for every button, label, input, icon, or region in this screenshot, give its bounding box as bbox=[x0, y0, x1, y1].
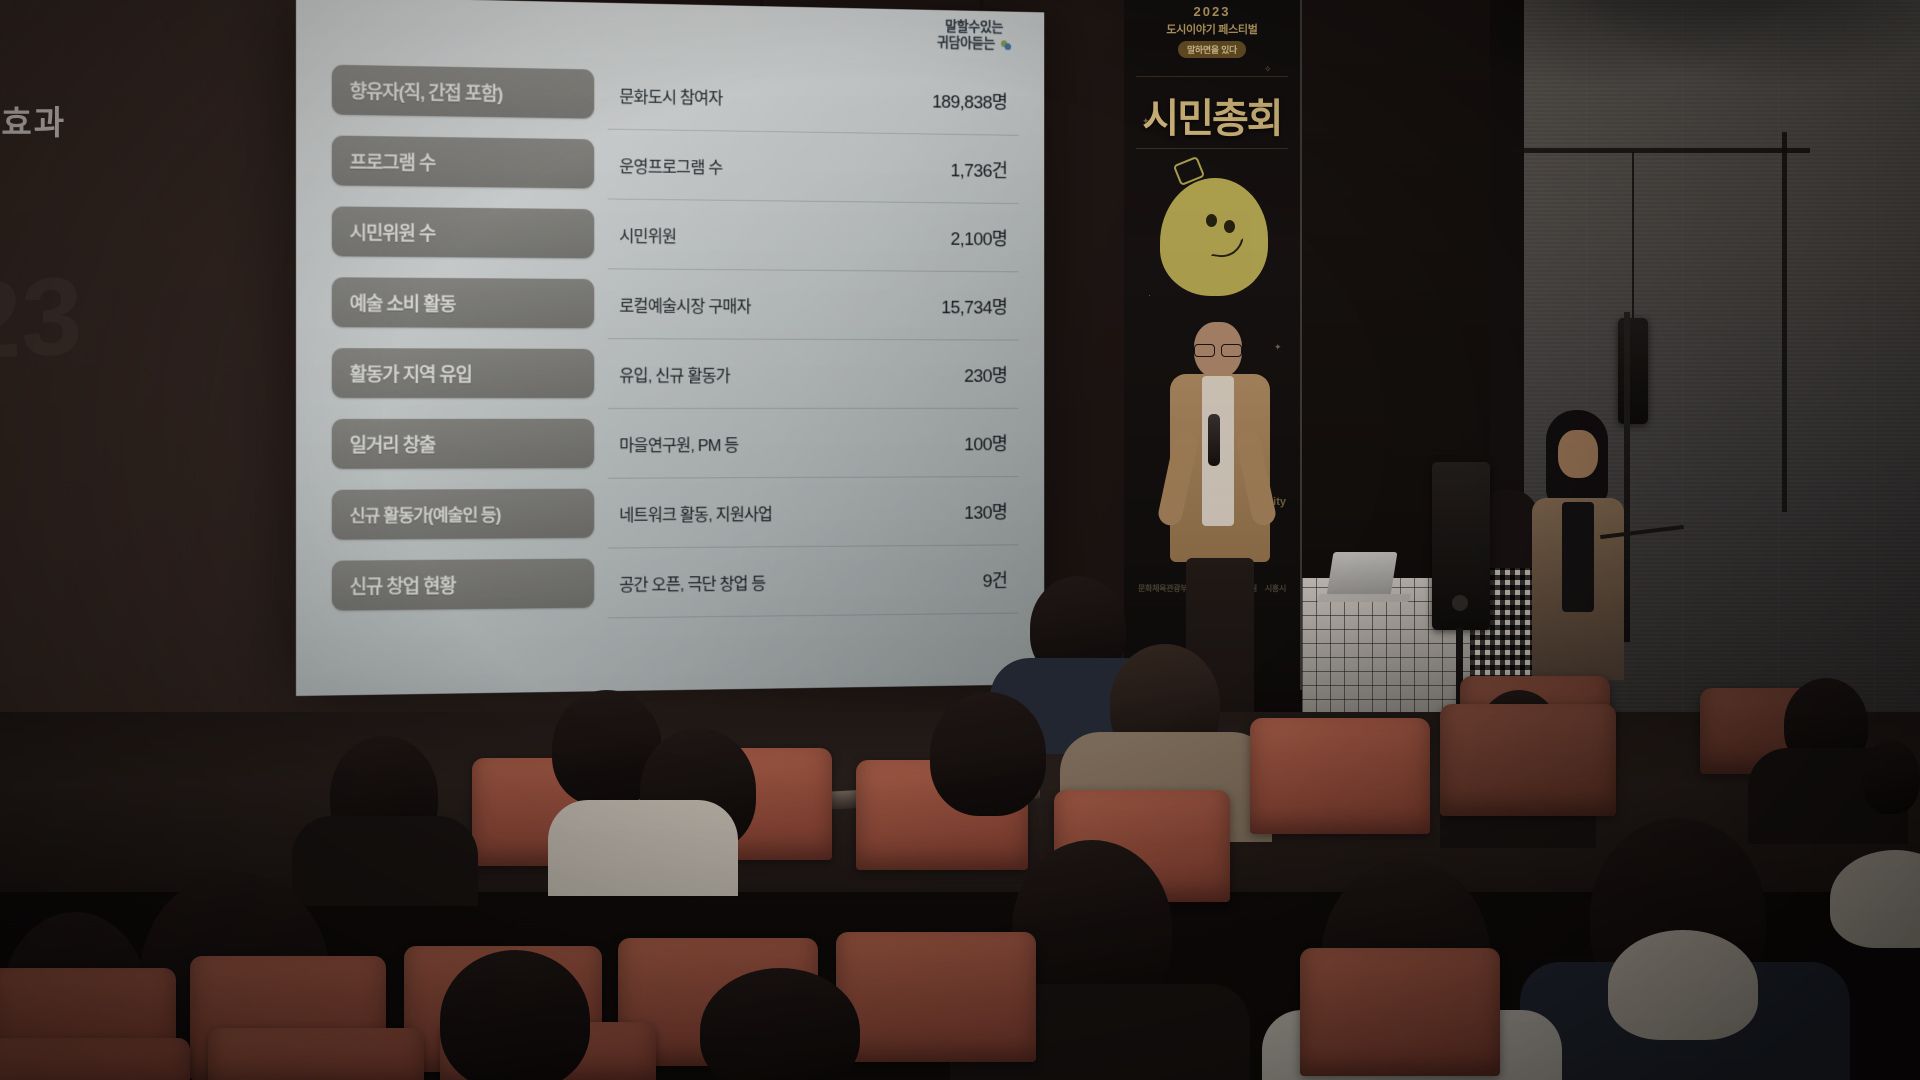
row-label: 신규 창업 현황 bbox=[332, 558, 594, 610]
table-row: 일거리 창출 마을연구원, PM 등 100명 bbox=[332, 413, 1020, 475]
wall-beam-horizontal bbox=[1510, 148, 1810, 153]
moderator-inner-top bbox=[1562, 502, 1594, 612]
banner-year: 2023 bbox=[1124, 4, 1300, 19]
row-value: 230명 bbox=[881, 361, 1020, 387]
auditorium-photo: 말할수있는 귀담아듣는 향유자(직, 간접 포함) 문화도시 참여자 189,8… bbox=[0, 0, 1920, 1080]
banner-festival-name: 도시이야기 페스티벌 bbox=[1124, 21, 1300, 37]
speaker-cone-icon bbox=[1452, 595, 1468, 611]
metrics-table: 향유자(직, 간접 포함) 문화도시 참여자 189,838명 프로그램 수 운… bbox=[332, 59, 1020, 617]
laptop-base bbox=[1317, 594, 1412, 602]
row-value: 15,734명 bbox=[881, 292, 1020, 319]
projection-screen: 말할수있는 귀담아듣는 향유자(직, 간접 포함) 문화도시 참여자 189,8… bbox=[296, 0, 1044, 696]
audience-head bbox=[1862, 740, 1920, 814]
theater-seat bbox=[1440, 704, 1616, 816]
brand-dots-icon bbox=[1001, 35, 1011, 51]
row-value: 9건 bbox=[881, 566, 1020, 593]
row-label: 활동가 지역 유입 bbox=[332, 348, 594, 398]
table-row: 예술 소비 활동 로컬예술시장 구매자 15,734명 bbox=[332, 271, 1020, 336]
brand-line-2: 귀담아듣는 bbox=[937, 34, 995, 51]
mic-stand bbox=[1624, 312, 1630, 642]
table-row: 신규 활동가(예술인 등) 네트워크 활동, 지원사업 130명 bbox=[332, 481, 1020, 546]
row-value: 1,736건 bbox=[881, 155, 1020, 183]
row-label: 일거리 창출 bbox=[332, 419, 594, 469]
row-label: 시민위원 수 bbox=[332, 206, 594, 258]
row-description: 네트워크 활동, 지원사업 bbox=[594, 499, 881, 525]
glasses-icon bbox=[1194, 344, 1242, 355]
audience-hat bbox=[1608, 930, 1758, 1040]
row-value: 100명 bbox=[881, 429, 1020, 455]
row-label: 신규 활동가(예술인 등) bbox=[332, 489, 594, 540]
table-row: 시민위원 수 시민위원 2,100명 bbox=[332, 200, 1020, 267]
row-value: 189,838명 bbox=[881, 86, 1020, 114]
table-row: 활동가 지역 유입 유입, 신규 활동가 230명 bbox=[332, 342, 1020, 404]
row-value: 130명 bbox=[881, 498, 1020, 525]
audience-shoulders bbox=[548, 800, 738, 896]
theater-seat bbox=[0, 1038, 190, 1080]
table-row: 프로그램 수 운영프로그램 수 1,736건 bbox=[332, 130, 1020, 200]
audience-seating bbox=[0, 700, 1920, 1080]
theater-seat bbox=[1250, 718, 1430, 834]
previous-slide-overlay: 23 실적 및 효과 사업을 통한 효과 창출 bbox=[0, 0, 300, 700]
pear-mascot-icon bbox=[1160, 178, 1268, 296]
previous-slide-subtitle-2: 효과 창출 bbox=[0, 225, 302, 254]
audience-head-foreground bbox=[440, 950, 590, 1080]
audience-shoulders bbox=[292, 816, 478, 906]
wall-beam-vertical bbox=[1782, 132, 1787, 512]
table-row: 향유자(직, 간접 포함) 문화도시 참여자 189,838명 bbox=[332, 59, 1020, 131]
laptop bbox=[1327, 552, 1398, 596]
row-description: 로컬예술시장 구매자 bbox=[594, 291, 881, 317]
row-description: 마을연구원, PM 등 bbox=[594, 431, 881, 456]
row-description: 운영프로그램 수 bbox=[594, 152, 881, 180]
ghost-number: 23 bbox=[0, 252, 82, 385]
row-description: 시민위원 bbox=[594, 221, 881, 248]
banner-title: 시민총회 bbox=[1124, 86, 1300, 144]
wall-beam-thin bbox=[1632, 152, 1634, 320]
moderator-standing bbox=[1528, 410, 1624, 680]
previous-slide-title: 실적 및 효과 bbox=[0, 96, 302, 144]
wall-speaker bbox=[1618, 318, 1648, 424]
theater-seat bbox=[836, 932, 1036, 1062]
moderator-face bbox=[1558, 430, 1598, 478]
banner-header: 2023 도시이야기 페스티벌 말하면을 있다 bbox=[1124, 4, 1300, 58]
audience-head bbox=[930, 692, 1046, 816]
theater-seat bbox=[208, 1028, 424, 1080]
row-label: 프로그램 수 bbox=[332, 136, 594, 189]
theater-seat bbox=[1300, 948, 1500, 1076]
row-description: 공간 오픈, 극단 창업 등 bbox=[594, 568, 881, 595]
row-description: 문화도시 참여자 bbox=[594, 82, 881, 111]
row-value: 2,100명 bbox=[881, 223, 1020, 250]
banner-badge: 말하면을 있다 bbox=[1178, 41, 1246, 58]
brand-line-1: 말할수있는 bbox=[937, 18, 1011, 35]
row-label: 예술 소비 활동 bbox=[332, 277, 594, 328]
slide-brand-logo: 말할수있는 귀담아듣는 bbox=[937, 18, 1011, 51]
microphone-icon bbox=[1208, 414, 1220, 466]
audience-hat bbox=[1830, 850, 1920, 948]
row-label: 향유자(직, 간접 포함) bbox=[332, 65, 594, 119]
row-description: 유입, 신규 활동가 bbox=[594, 361, 881, 386]
previous-slide-subtitle-1: 사업을 통한 bbox=[0, 185, 302, 214]
table-row: 신규 창업 현황 공간 오픈, 극단 창업 등 9건 bbox=[332, 549, 1020, 616]
